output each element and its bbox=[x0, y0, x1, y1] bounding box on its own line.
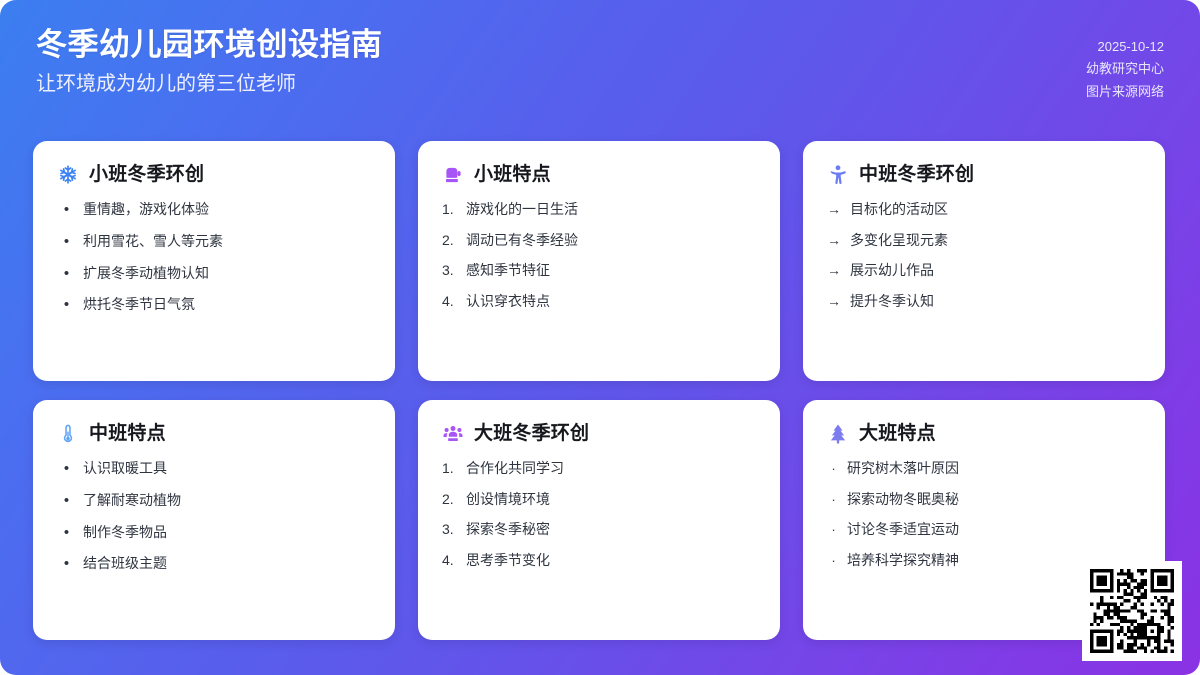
header-left: 冬季幼儿园环境创设指南 让环境成为幼儿的第三位老师 bbox=[36, 26, 383, 97]
card-list: →目标化的活动区→多变化呈现元素→展示幼儿作品→提升冬季认知 bbox=[827, 201, 1141, 323]
card-zhongban-huanchuang: 中班冬季环创→目标化的活动区→多变化呈现元素→展示幼儿作品→提升冬季认知 bbox=[803, 141, 1165, 381]
list-item: ·探索动物冬眠奥秘 bbox=[827, 491, 1141, 522]
card-header: 中班冬季环创 bbox=[827, 163, 1141, 187]
list-marker: • bbox=[57, 265, 76, 284]
list-item-text: 思考季节变化 bbox=[466, 552, 756, 570]
poster-root: 冬季幼儿园环境创设指南 让环境成为幼儿的第三位老师 2025-10-12 幼教研… bbox=[0, 0, 1200, 675]
mitten-icon bbox=[442, 163, 464, 187]
list-item: •了解耐寒动植物 bbox=[57, 492, 371, 524]
list-item-text: 调动已有冬季经验 bbox=[466, 232, 756, 250]
list-marker: • bbox=[57, 492, 76, 511]
list-marker: → bbox=[827, 232, 843, 250]
list-item: •制作冬季物品 bbox=[57, 524, 371, 556]
thermometer-icon bbox=[57, 422, 79, 446]
qr-code[interactable] bbox=[1082, 561, 1182, 661]
list-marker: → bbox=[827, 293, 843, 311]
list-item-text: 制作冬季物品 bbox=[83, 524, 371, 542]
card-zhongban-tedian: 中班特点•认识取暖工具•了解耐寒动植物•制作冬季物品•结合班级主题 bbox=[33, 400, 395, 640]
list-item: •烘托冬季节日气氛 bbox=[57, 296, 371, 328]
card-title: 大班特点 bbox=[859, 423, 936, 446]
list-item: •利用雪花、雪人等元素 bbox=[57, 233, 371, 265]
list-item-text: 展示幼儿作品 bbox=[850, 262, 1141, 280]
list-item: 1.游戏化的一日生活 bbox=[442, 201, 756, 232]
list-item-text: 认识穿衣特点 bbox=[466, 293, 756, 311]
list-item: 2.调动已有冬季经验 bbox=[442, 232, 756, 263]
header-meta: 2025-10-12 幼教研究中心 图片来源网络 bbox=[1086, 26, 1164, 103]
list-marker: · bbox=[827, 553, 840, 569]
list-item: •认识取暖工具 bbox=[57, 460, 371, 492]
card-xiaoban-huanchuang: 小班冬季环创•重情趣，游戏化体验•利用雪花、雪人等元素•扩展冬季动植物认知•烘托… bbox=[33, 141, 395, 381]
qr-code-image bbox=[1090, 569, 1174, 653]
list-marker: 2. bbox=[442, 232, 459, 250]
list-marker: 4. bbox=[442, 293, 459, 311]
card-header: 中班特点 bbox=[57, 422, 371, 446]
list-marker: • bbox=[57, 460, 76, 479]
list-marker: → bbox=[827, 201, 843, 219]
card-header: 小班特点 bbox=[442, 163, 756, 187]
list-marker: · bbox=[827, 492, 840, 508]
card-header: 小班冬季环创 bbox=[57, 163, 371, 187]
list-marker: · bbox=[827, 522, 840, 538]
list-item-text: 感知季节特征 bbox=[466, 262, 756, 280]
list-marker: 4. bbox=[442, 552, 459, 570]
list-marker: 3. bbox=[442, 262, 459, 280]
list-item: →目标化的活动区 bbox=[827, 201, 1141, 232]
list-item-text: 了解耐寒动植物 bbox=[83, 492, 371, 510]
list-item-text: 讨论冬季适宜运动 bbox=[847, 521, 1141, 539]
list-item-text: 提升冬季认知 bbox=[850, 293, 1141, 311]
list-item: 3.感知季节特征 bbox=[442, 262, 756, 293]
page-subtitle: 让环境成为幼儿的第三位老师 bbox=[36, 71, 383, 97]
list-marker: · bbox=[827, 461, 840, 477]
list-item-text: 重情趣，游戏化体验 bbox=[83, 201, 371, 219]
list-item-text: 烘托冬季节日气氛 bbox=[83, 296, 371, 314]
list-marker: 2. bbox=[442, 491, 459, 509]
card-list: 1.合作化共同学习2.创设情境环境3.探索冬季秘密4.思考季节变化 bbox=[442, 460, 756, 582]
meta-source: 图片来源网络 bbox=[1086, 81, 1164, 103]
list-marker: → bbox=[827, 262, 843, 280]
list-item: 3.探索冬季秘密 bbox=[442, 521, 756, 552]
list-item-text: 多变化呈现元素 bbox=[850, 232, 1141, 250]
list-item-text: 合作化共同学习 bbox=[466, 460, 756, 478]
list-marker: • bbox=[57, 555, 76, 574]
list-item: →多变化呈现元素 bbox=[827, 232, 1141, 263]
list-item-text: 游戏化的一日生活 bbox=[466, 201, 756, 219]
list-item-text: 利用雪花、雪人等元素 bbox=[83, 233, 371, 251]
pine-tree-icon bbox=[827, 422, 849, 446]
card-header: 大班冬季环创 bbox=[442, 422, 756, 446]
list-item: •扩展冬季动植物认知 bbox=[57, 265, 371, 297]
people-group-icon bbox=[442, 422, 464, 446]
card-header: 大班特点 bbox=[827, 422, 1141, 446]
list-item-text: 探索冬季秘密 bbox=[466, 521, 756, 539]
list-marker: 3. bbox=[442, 521, 459, 539]
card-list: •重情趣，游戏化体验•利用雪花、雪人等元素•扩展冬季动植物认知•烘托冬季节日气氛 bbox=[57, 201, 371, 328]
card-title: 小班冬季环创 bbox=[89, 164, 204, 187]
card-title: 小班特点 bbox=[474, 164, 551, 187]
list-item: 2.创设情境环境 bbox=[442, 491, 756, 522]
list-item: 1.合作化共同学习 bbox=[442, 460, 756, 491]
list-item: 4.认识穿衣特点 bbox=[442, 293, 756, 324]
card-title: 大班冬季环创 bbox=[474, 423, 589, 446]
card-daban-huanchuang: 大班冬季环创1.合作化共同学习2.创设情境环境3.探索冬季秘密4.思考季节变化 bbox=[418, 400, 780, 640]
list-item-text: 认识取暖工具 bbox=[83, 460, 371, 478]
list-marker: • bbox=[57, 296, 76, 315]
list-item-text: 目标化的活动区 bbox=[850, 201, 1141, 219]
card-list: 1.游戏化的一日生活2.调动已有冬季经验3.感知季节特征4.认识穿衣特点 bbox=[442, 201, 756, 323]
meta-organization: 幼教研究中心 bbox=[1086, 58, 1164, 80]
list-item: →提升冬季认知 bbox=[827, 293, 1141, 324]
list-item: ·研究树木落叶原因 bbox=[827, 460, 1141, 491]
poster-header: 冬季幼儿园环境创设指南 让环境成为幼儿的第三位老师 2025-10-12 幼教研… bbox=[0, 0, 1200, 128]
list-item: •重情趣，游戏化体验 bbox=[57, 201, 371, 233]
list-item-text: 扩展冬季动植物认知 bbox=[83, 265, 371, 283]
card-list: •认识取暖工具•了解耐寒动植物•制作冬季物品•结合班级主题 bbox=[57, 460, 371, 587]
list-item: 4.思考季节变化 bbox=[442, 552, 756, 583]
list-marker: 1. bbox=[442, 460, 459, 478]
list-item-text: 创设情境环境 bbox=[466, 491, 756, 509]
list-item: •结合班级主题 bbox=[57, 555, 371, 587]
child-icon bbox=[827, 163, 849, 187]
list-item: →展示幼儿作品 bbox=[827, 262, 1141, 293]
list-item-text: 探索动物冬眠奥秘 bbox=[847, 491, 1141, 509]
card-title: 中班冬季环创 bbox=[859, 164, 974, 187]
meta-date: 2025-10-12 bbox=[1098, 36, 1165, 58]
card-title: 中班特点 bbox=[89, 423, 166, 446]
list-marker: 1. bbox=[442, 201, 459, 219]
list-marker: • bbox=[57, 233, 76, 252]
list-item: ·讨论冬季适宜运动 bbox=[827, 521, 1141, 552]
list-item-text: 结合班级主题 bbox=[83, 555, 371, 573]
list-marker: • bbox=[57, 524, 76, 543]
card-xiaoban-tedian: 小班特点1.游戏化的一日生活2.调动已有冬季经验3.感知季节特征4.认识穿衣特点 bbox=[418, 141, 780, 381]
list-item-text: 研究树木落叶原因 bbox=[847, 460, 1141, 478]
card-grid: 小班冬季环创•重情趣，游戏化体验•利用雪花、雪人等元素•扩展冬季动植物认知•烘托… bbox=[33, 141, 1167, 640]
snowflake-icon bbox=[57, 163, 79, 187]
page-title: 冬季幼儿园环境创设指南 bbox=[36, 26, 383, 65]
list-marker: • bbox=[57, 201, 76, 220]
